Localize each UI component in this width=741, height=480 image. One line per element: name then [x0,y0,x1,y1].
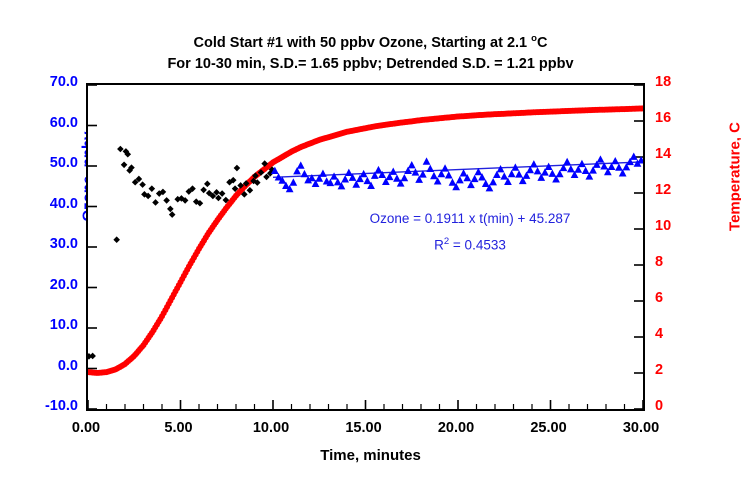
y-tick-label-left: -10.0 [8,398,78,414]
chart-title-line-2: For 10-30 min, S.D.= 1.65 ppbv; Detrende… [0,54,741,75]
y-tick-label-right: 4 [655,326,695,342]
y-tick-label-right: 16 [655,110,695,126]
x-tick-label: 20.00 [421,420,491,436]
regression-equation: Ozone = 0.1911 x t(min) + 45.287 [330,207,610,230]
y-tick-label-left: 30.0 [8,236,78,252]
x-tick-label: 30.00 [606,420,676,436]
x-tick-label: 25.00 [514,420,584,436]
y-axis-title-right: Temperature, C [727,67,741,287]
y-tick-label-right: 12 [655,182,695,198]
x-axis-title: Time, minutes [0,447,741,464]
y-tick-label-right: 2 [655,362,695,378]
ozone-trendline [273,162,643,177]
x-tick-label: 10.00 [236,420,306,436]
y-tick-label-right: 10 [655,218,695,234]
y-tick-label-right: 14 [655,146,695,162]
y-tick-label-right: 0 [655,398,695,414]
y-tick-label-left: 20.0 [8,277,78,293]
x-tick-label: 15.00 [329,420,399,436]
y-tick-label-left: 0.0 [8,358,78,374]
y-tick-label-left: 10.0 [8,317,78,333]
degree-unit: C [537,35,547,51]
x-tick-label: 0.00 [51,420,121,436]
chart-title: Cold Start #1 with 50 ppbv Ozone, Starti… [0,28,741,75]
y-tick-label-left: 70.0 [8,74,78,90]
chart-root: Cold Start #1 with 50 ppbv Ozone, Starti… [0,0,741,480]
x-tick-label: 5.00 [144,420,214,436]
y-tick-label-right: 18 [655,74,695,90]
series-ozone-early [88,146,275,360]
series-ozone-late [271,152,643,192]
chart-title-line-1: Cold Start #1 with 50 ppbv Ozone, Starti… [0,28,741,54]
y-tick-label-left: 50.0 [8,155,78,171]
regression-annotation: Ozone = 0.1911 x t(min) + 45.287 R2 = 0.… [330,207,610,257]
y-tick-label-left: 40.0 [8,196,78,212]
y-tick-label-right: 8 [655,254,695,270]
y-tick-label-left: 60.0 [8,115,78,131]
y-tick-label-right: 6 [655,290,695,306]
regression-r-squared: R2 = 0.4533 [330,230,610,257]
